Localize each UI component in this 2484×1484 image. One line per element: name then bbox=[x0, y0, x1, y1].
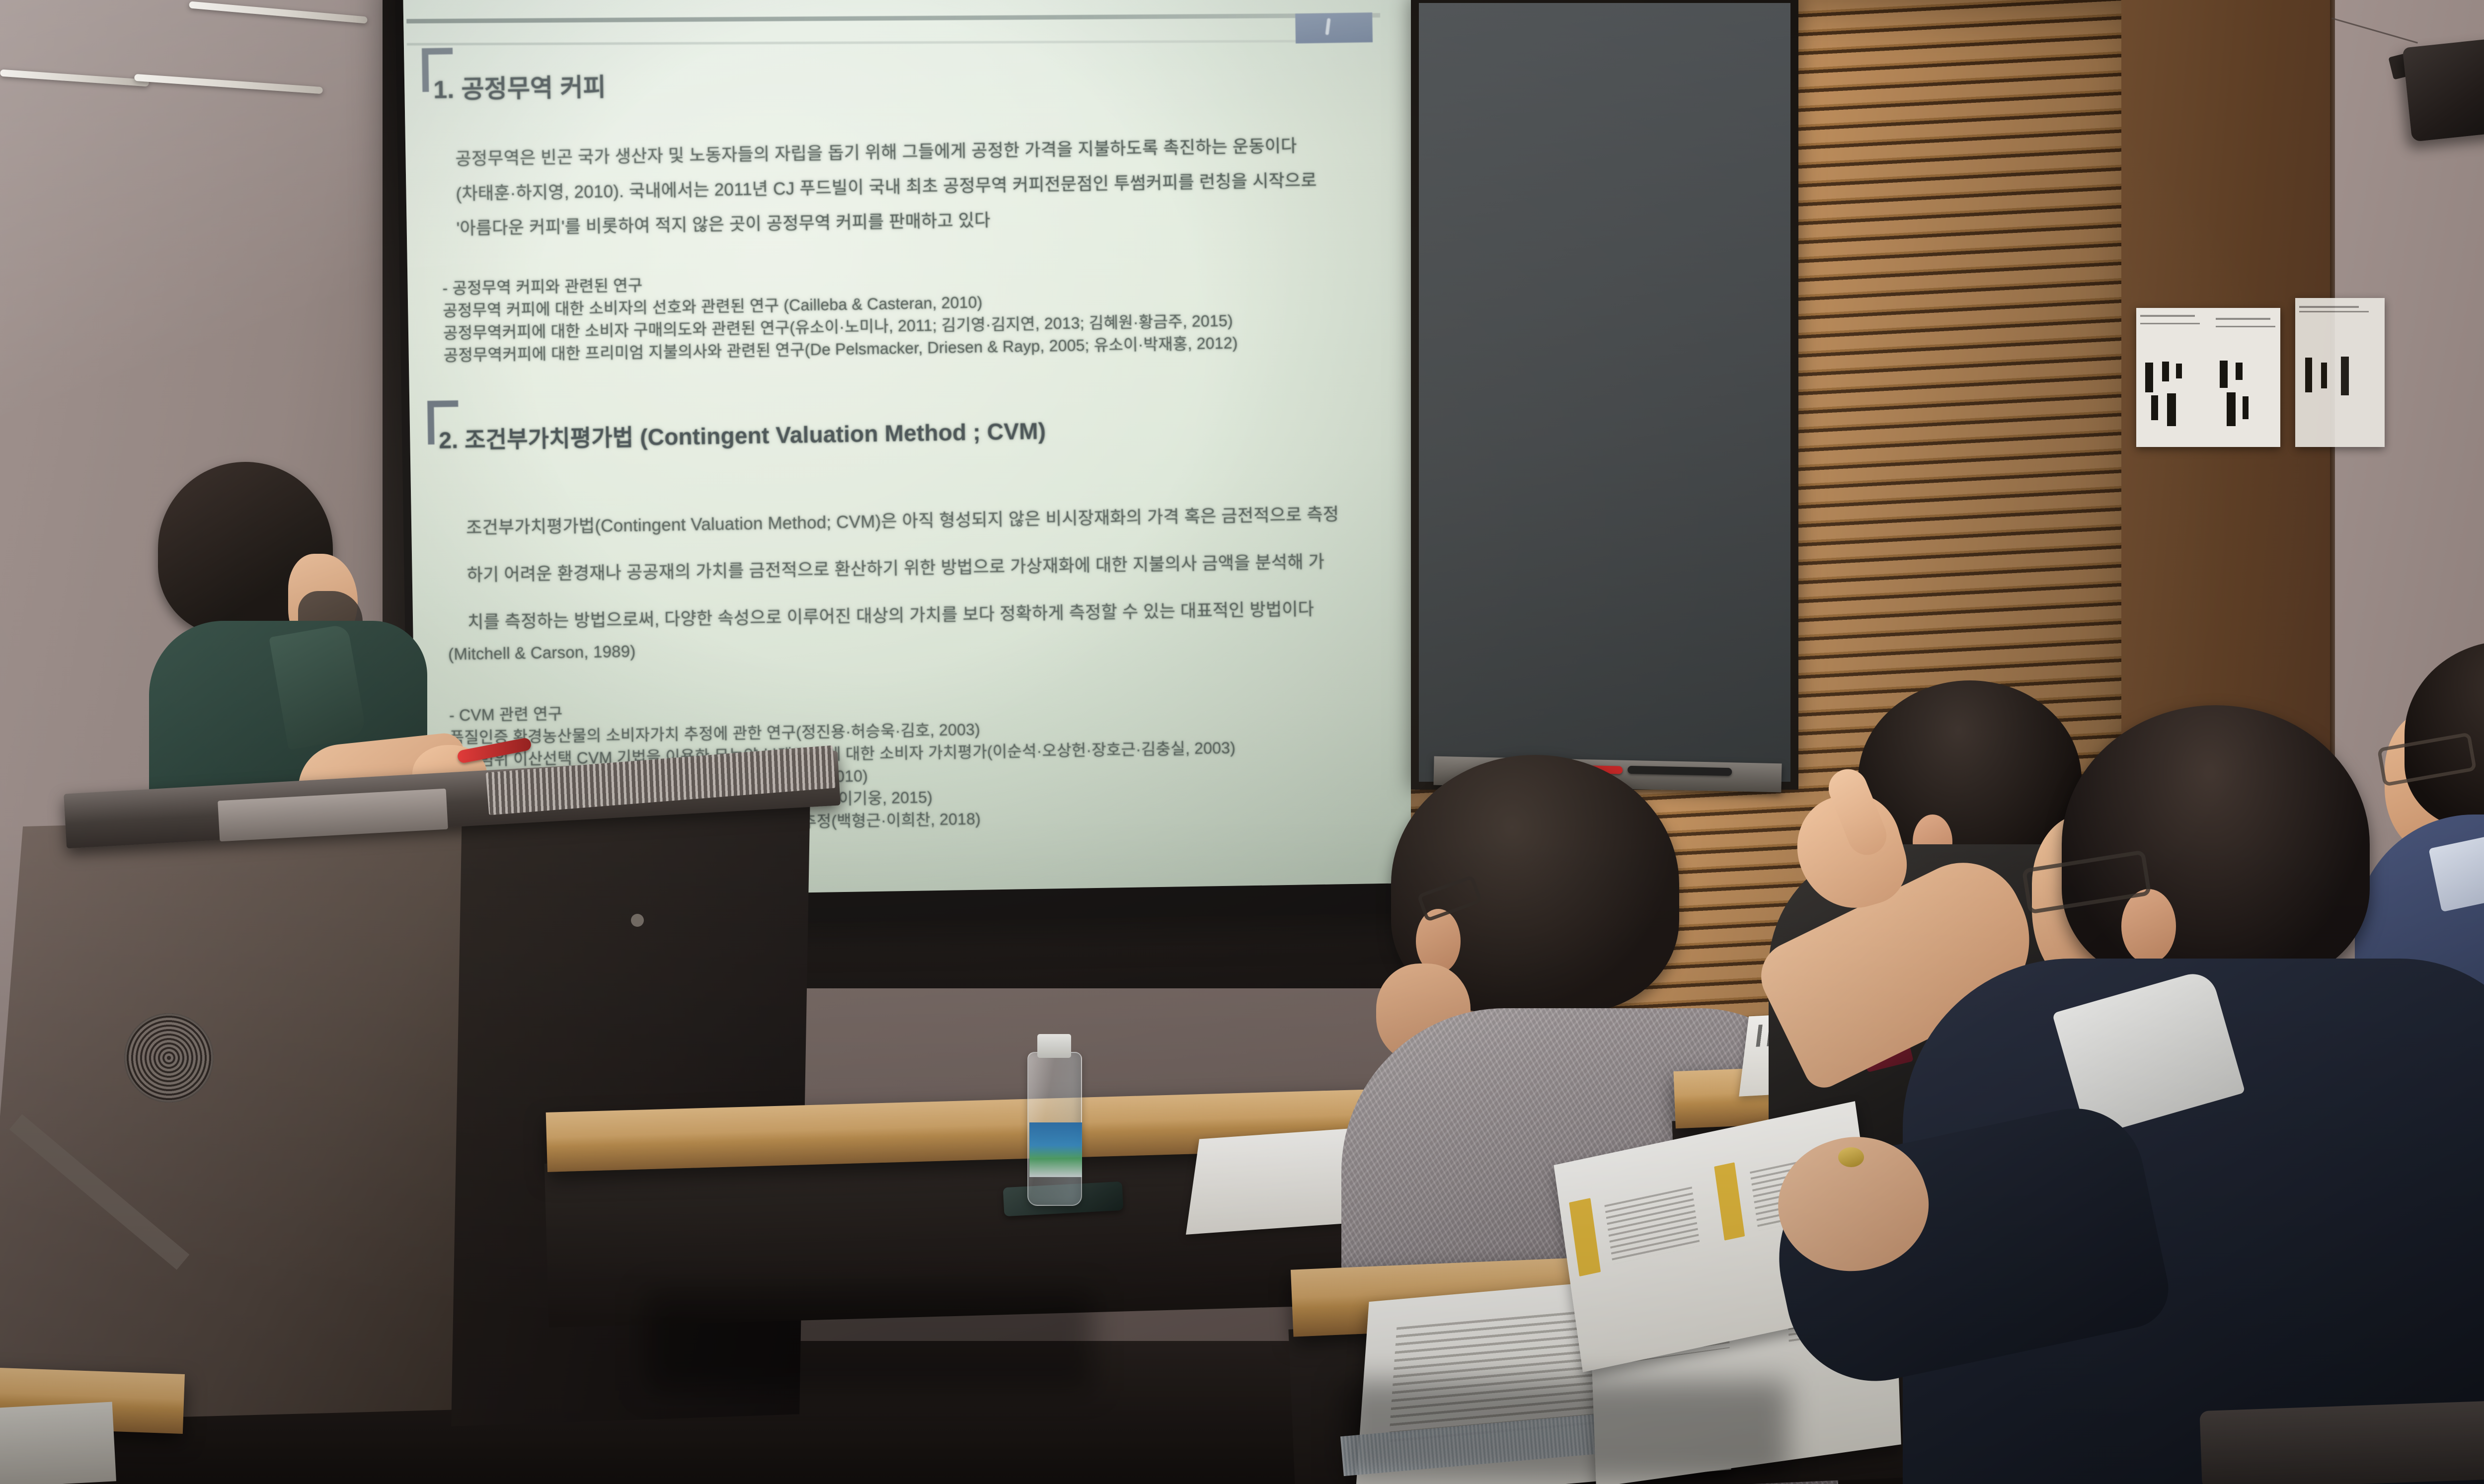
gold-ring bbox=[1838, 1147, 1864, 1167]
attendee-suit-hair bbox=[2062, 705, 2370, 983]
projection-screen[interactable]: Ⅱ. 이론적 배경 1. 공정무역 커피 공정무역은 빈곤 국가 생산자 및 노… bbox=[403, 0, 1438, 899]
slide-citation-2: (Mitchell & Carson, 1989) bbox=[448, 642, 636, 664]
slide-reference-group-1: - 공정무역 커피와 관련된 연구 공정무역 커피에 대한 소비자의 선호와 관… bbox=[442, 265, 1238, 367]
wall-poster-notice bbox=[2295, 298, 2385, 447]
seminar-room-photo: Ⅱ. 이론적 배경 1. 공정무역 커피 공정무역은 빈곤 국가 생산자 및 노… bbox=[0, 0, 2484, 1484]
slide-paragraph-1: 공정무역은 빈곤 국가 생산자 및 노동자들의 자립을 돕기 위해 그들에게 공… bbox=[455, 129, 1318, 246]
book-text-lines bbox=[1604, 1187, 1700, 1264]
bottle-cap[interactable] bbox=[1037, 1034, 1071, 1058]
slide-paragraph-2: 조건부가치평가법(Contingent Valuation Method; CV… bbox=[466, 491, 1340, 646]
podium-vent-fan bbox=[124, 1013, 214, 1103]
slide-header-region: Ⅱ. 이론적 배경 bbox=[408, 0, 1402, 12]
wall-poster-notice bbox=[2136, 308, 2280, 447]
book-tab-yellow bbox=[1569, 1198, 1601, 1276]
bottle-label bbox=[1029, 1122, 1082, 1177]
far-left-chair bbox=[0, 1402, 116, 1484]
slide-accent-bar bbox=[1295, 12, 1373, 43]
slide-header-divider bbox=[406, 13, 1380, 23]
water-bottle[interactable] bbox=[1027, 1052, 1082, 1206]
slide-heading-1: 1. 공정무역 커피 bbox=[433, 67, 607, 105]
marker-black bbox=[1628, 766, 1732, 776]
slide-accent-mark bbox=[1325, 18, 1330, 35]
wall-light-sheen bbox=[0, 0, 447, 447]
slide-header-divider-secondary bbox=[407, 40, 1301, 45]
book-tab-yellow bbox=[1714, 1162, 1745, 1241]
slide-section-header: Ⅱ. 이론적 배경 bbox=[428, 0, 593, 3]
wall-speaker bbox=[2403, 37, 2484, 142]
podium-screw bbox=[631, 914, 644, 927]
slide-heading-2: 2. 조건부가치평가법 (Contingent Valuation Method… bbox=[439, 413, 1046, 455]
attendee-suit-ear bbox=[2121, 889, 2176, 964]
whiteboard bbox=[1411, 0, 1798, 790]
chair-back bbox=[2199, 1400, 2484, 1484]
